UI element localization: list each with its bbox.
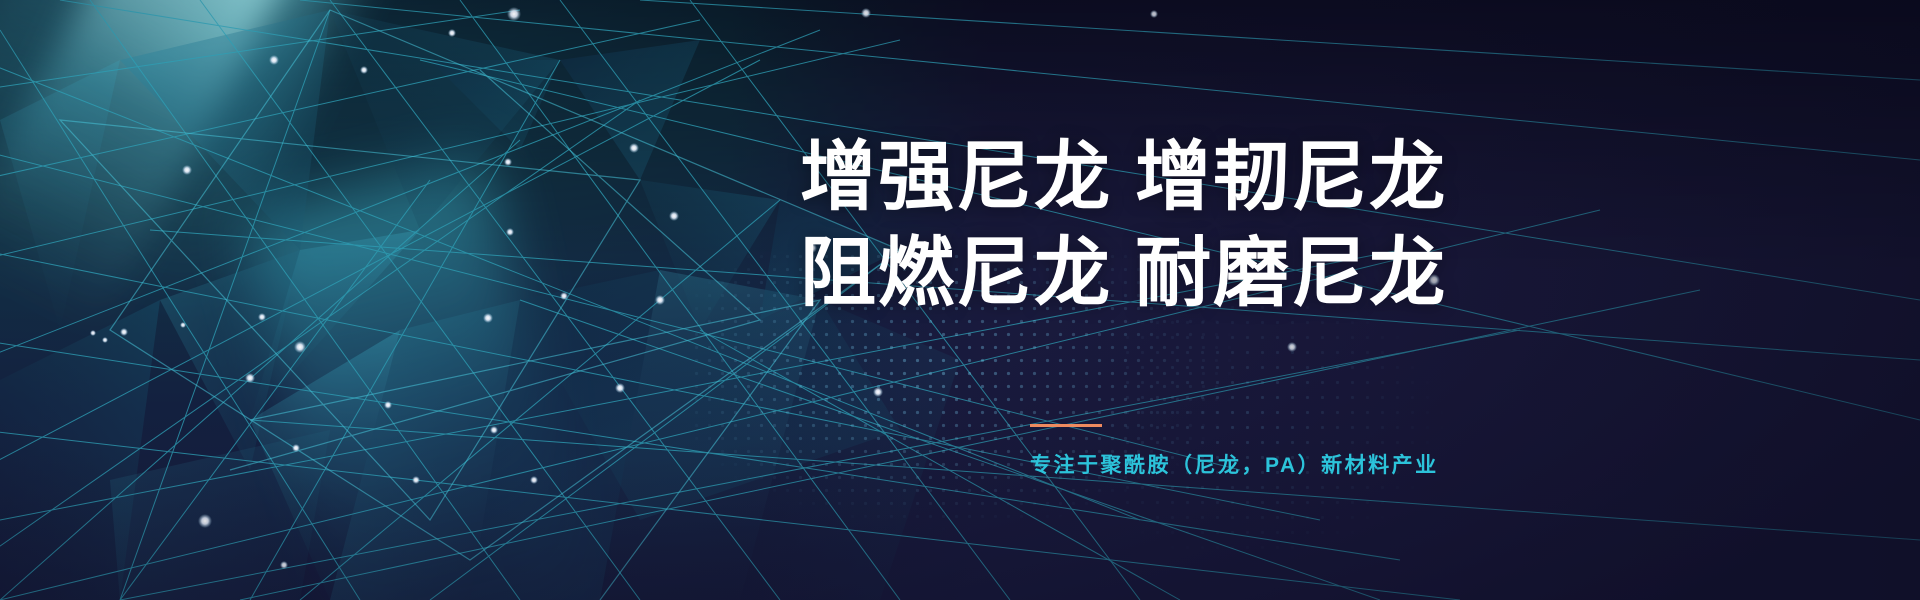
hero-banner: 增强尼龙 增韧尼龙 阻燃尼龙 耐磨尼龙 专注于聚酰胺（尼龙，PA）新材料产业 — [0, 0, 1920, 600]
banner-content: 增强尼龙 增韧尼龙 阻燃尼龙 耐磨尼龙 专注于聚酰胺（尼龙，PA）新材料产业 — [0, 0, 1920, 600]
accent-divider — [1030, 424, 1102, 427]
subtitle-text: 专注于聚酰胺（尼龙，PA）新材料产业 — [1030, 449, 1590, 479]
headline: 增强尼龙 增韧尼龙 阻燃尼龙 耐磨尼龙 — [800, 130, 1447, 322]
headline-line-1: 增强尼龙 增韧尼龙 — [800, 130, 1447, 226]
headline-line-2: 阻燃尼龙 耐磨尼龙 — [800, 226, 1447, 322]
subtitle-block: 专注于聚酰胺（尼龙，PA）新材料产业 — [1030, 424, 1590, 479]
